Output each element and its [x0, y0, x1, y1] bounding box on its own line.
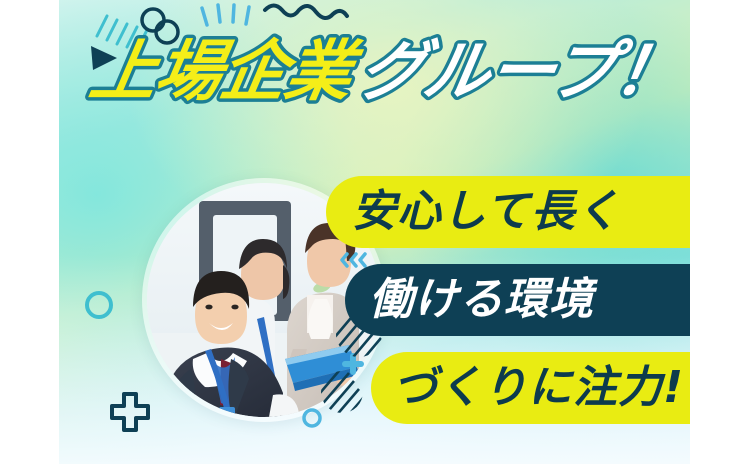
banner-root: 安心して長く 働ける環境 づくりに注力! 上場企業 グループ！ — [0, 0, 750, 464]
benefit-pill-1-label: 安心して長く — [352, 190, 621, 234]
benefit-pill-1: 安心して長く — [326, 176, 690, 248]
cross-outline-bottom-left-icon — [112, 394, 148, 430]
headline: 上場企業 グループ！ — [78, 22, 638, 118]
headline-part-white: グループ！ — [353, 32, 688, 109]
benefit-pill-2-label: 働ける環境 — [369, 278, 594, 322]
benefit-pill-2: 働ける環境 — [345, 264, 690, 336]
headline-part-yellow: 上場企業 — [85, 32, 368, 109]
circle-outline-left-icon — [87, 293, 111, 317]
benefit-pill-3-label: づくりに注力! — [393, 366, 684, 410]
squiggle-wave-icon — [265, 6, 347, 19]
benefit-pill-3: づくりに注力! — [371, 352, 690, 424]
